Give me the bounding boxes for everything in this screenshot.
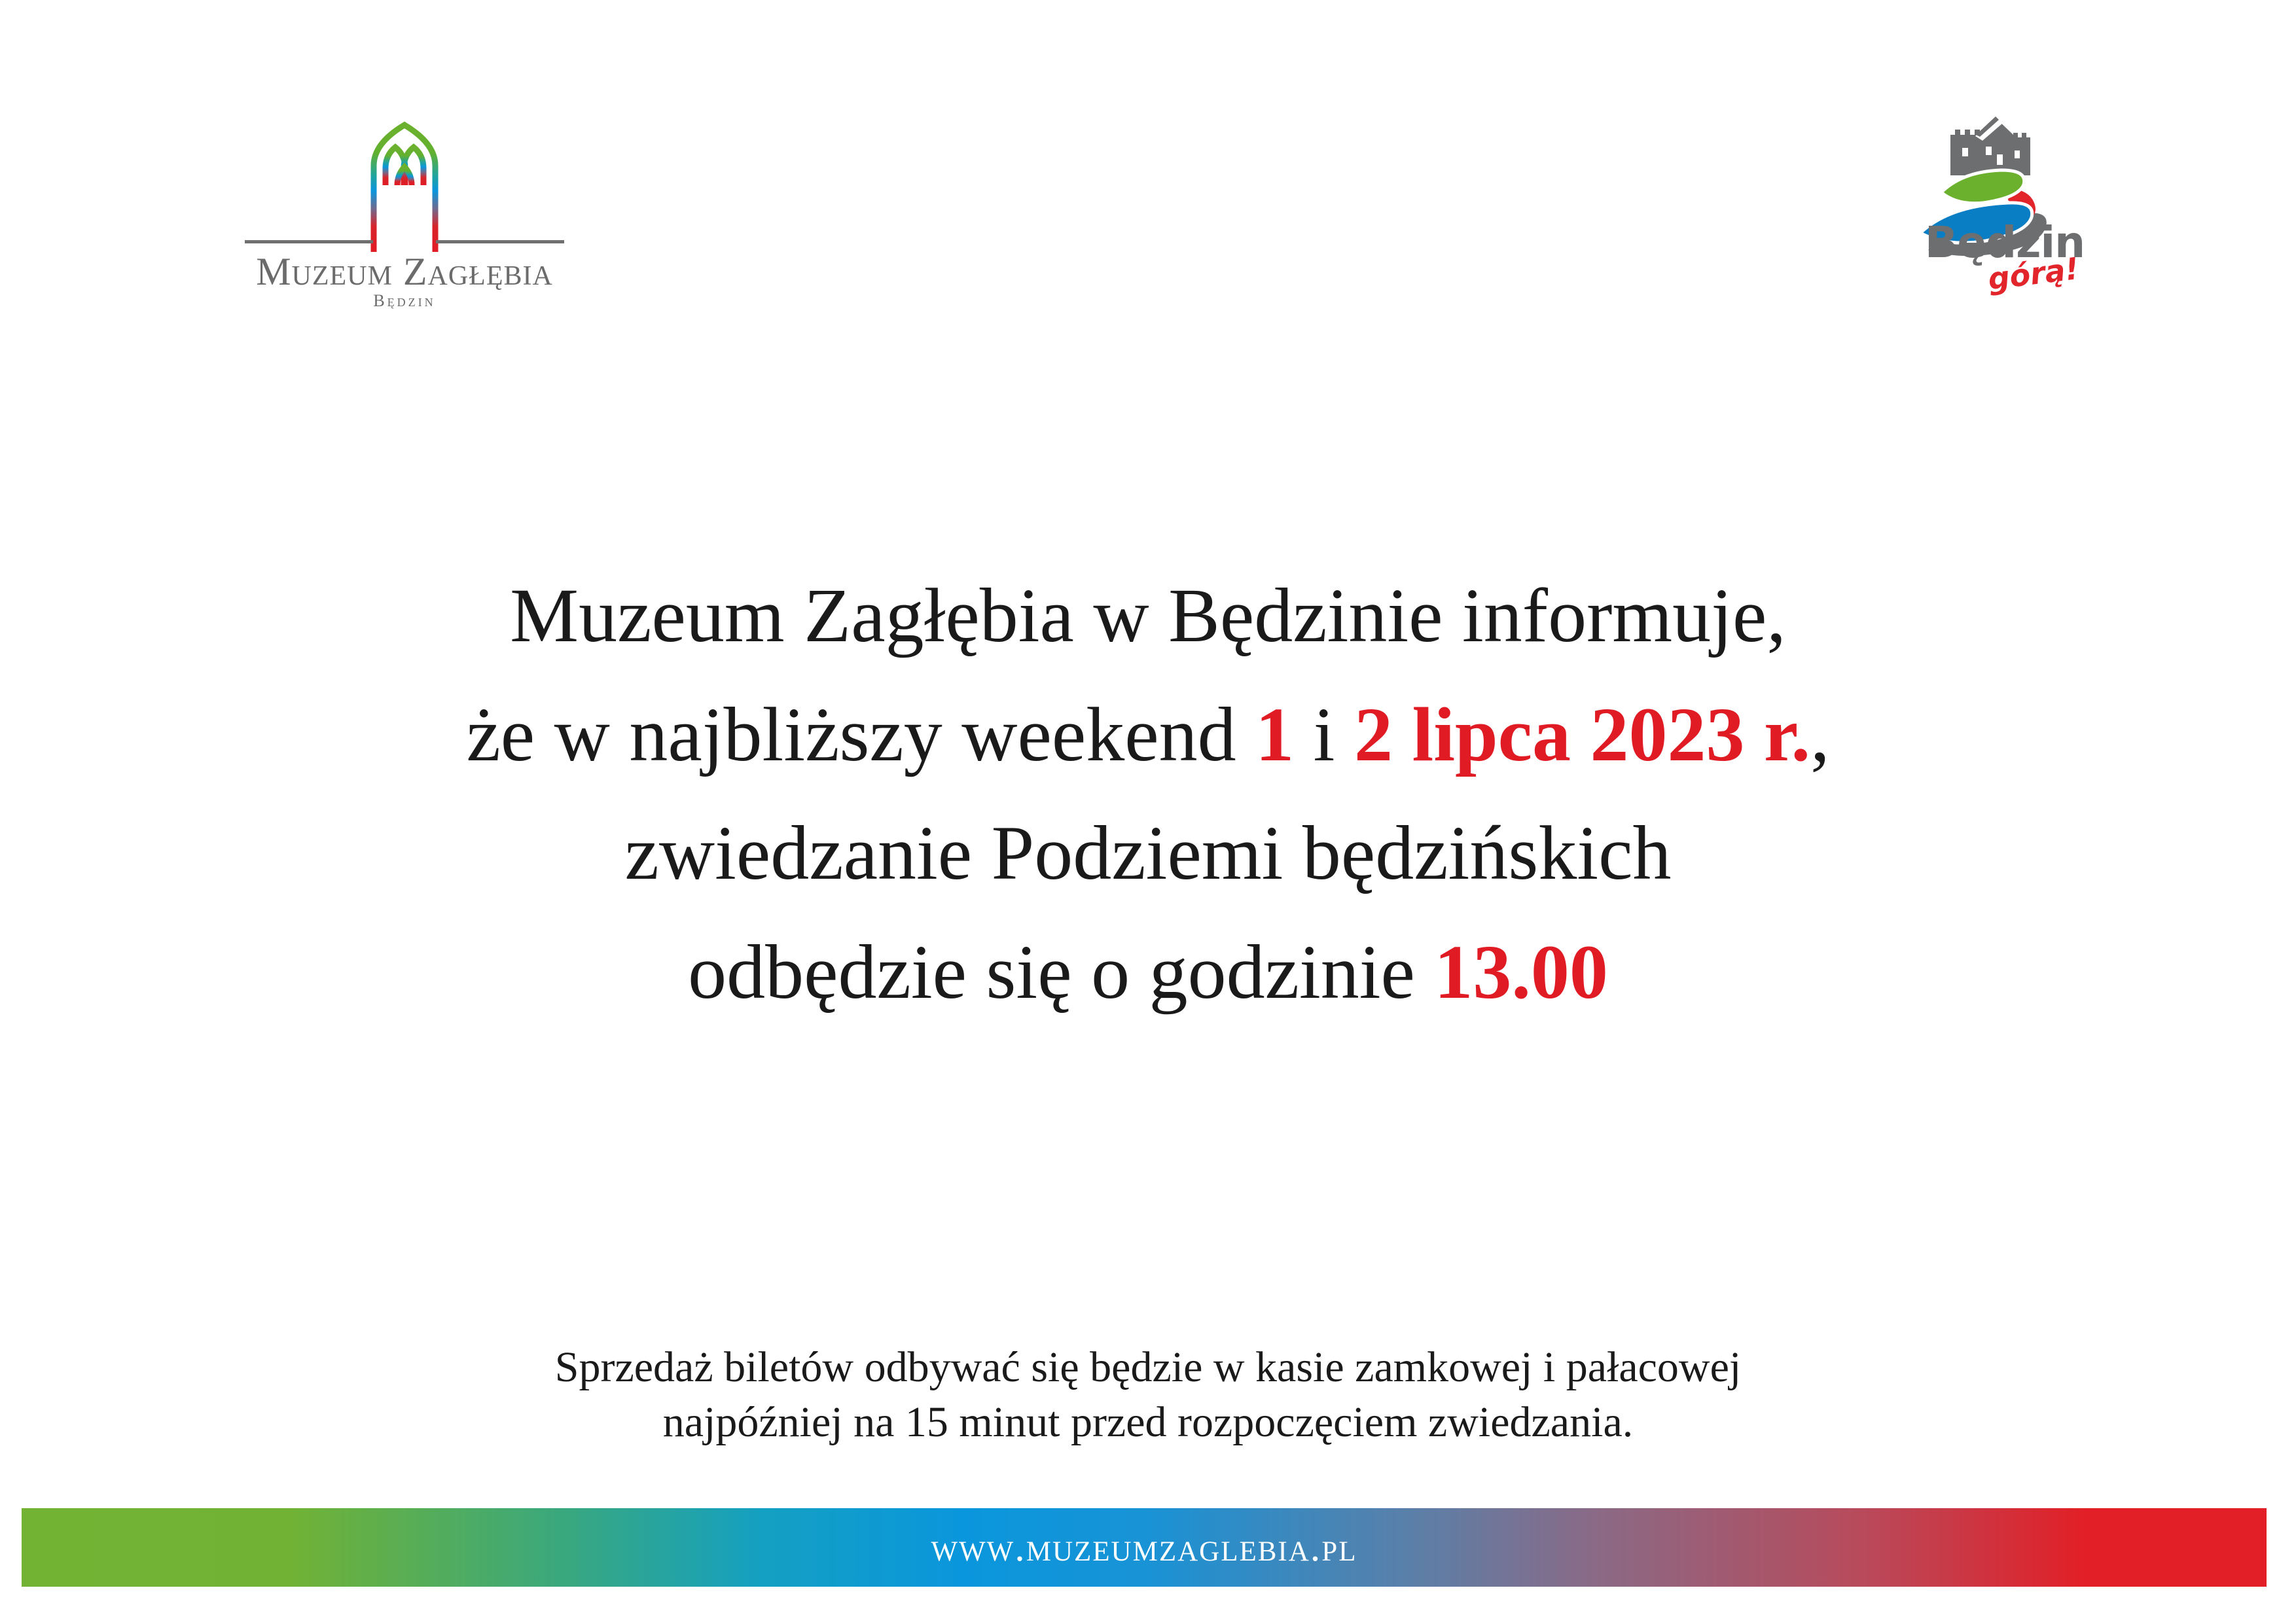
announcement-line-2-prefix: że w najbliższy weekend — [466, 692, 1255, 777]
event-time: 13.00 — [1434, 929, 1608, 1015]
announcement-line-3: zwiedzanie Podziemi będzińskich — [131, 794, 2165, 913]
ticket-sale-note: Sprzedaż biletów odbywać się będzie w ka… — [131, 1340, 2165, 1451]
museum-city: Będzin — [241, 292, 568, 309]
ticket-note-line-2: najpóźniej na 15 minut przed rozpoczęcie… — [131, 1395, 2165, 1450]
website-url[interactable]: www.muzeumzaglebia.pl — [931, 1527, 1357, 1568]
announcement-line-2: że w najbliższy weekend 1 i 2 lipca 2023… — [131, 675, 2165, 794]
logo-rule-left — [245, 240, 373, 243]
event-date-second: 2 lipca 2023 r. — [1354, 692, 1810, 777]
ticket-note-line-1: Sprzedaż biletów odbywać się będzie w ka… — [131, 1340, 2165, 1395]
logo-rule-right — [436, 240, 564, 243]
event-date-first: 1 — [1255, 692, 1294, 777]
poster-canvas: Muzeum Zagłębia Będzin — [0, 0, 2296, 1624]
footer-gradient-bar: www.muzeumzaglebia.pl — [22, 1508, 2267, 1587]
announcement-text: Muzeum Zagłębia w Będzinie informuje, że… — [131, 556, 2165, 1032]
announcement-line-2-conjunction: i — [1294, 692, 1354, 777]
museum-logo: Muzeum Zagłębia Będzin — [241, 121, 568, 311]
city-logo-bedzin: Będzin górą! — [1910, 98, 2100, 314]
gothic-window-icon — [366, 121, 443, 252]
announcement-line-4-prefix: odbędzie się o godzinie — [688, 929, 1434, 1015]
announcement-line-1: Muzeum Zagłębia w Będzinie informuje, — [131, 556, 2165, 675]
announcement-line-2-suffix: , — [1810, 692, 1830, 777]
museum-name: Muzeum Zagłębia — [241, 252, 568, 291]
announcement-line-4: odbędzie się o godzinie 13.00 — [131, 913, 2165, 1032]
